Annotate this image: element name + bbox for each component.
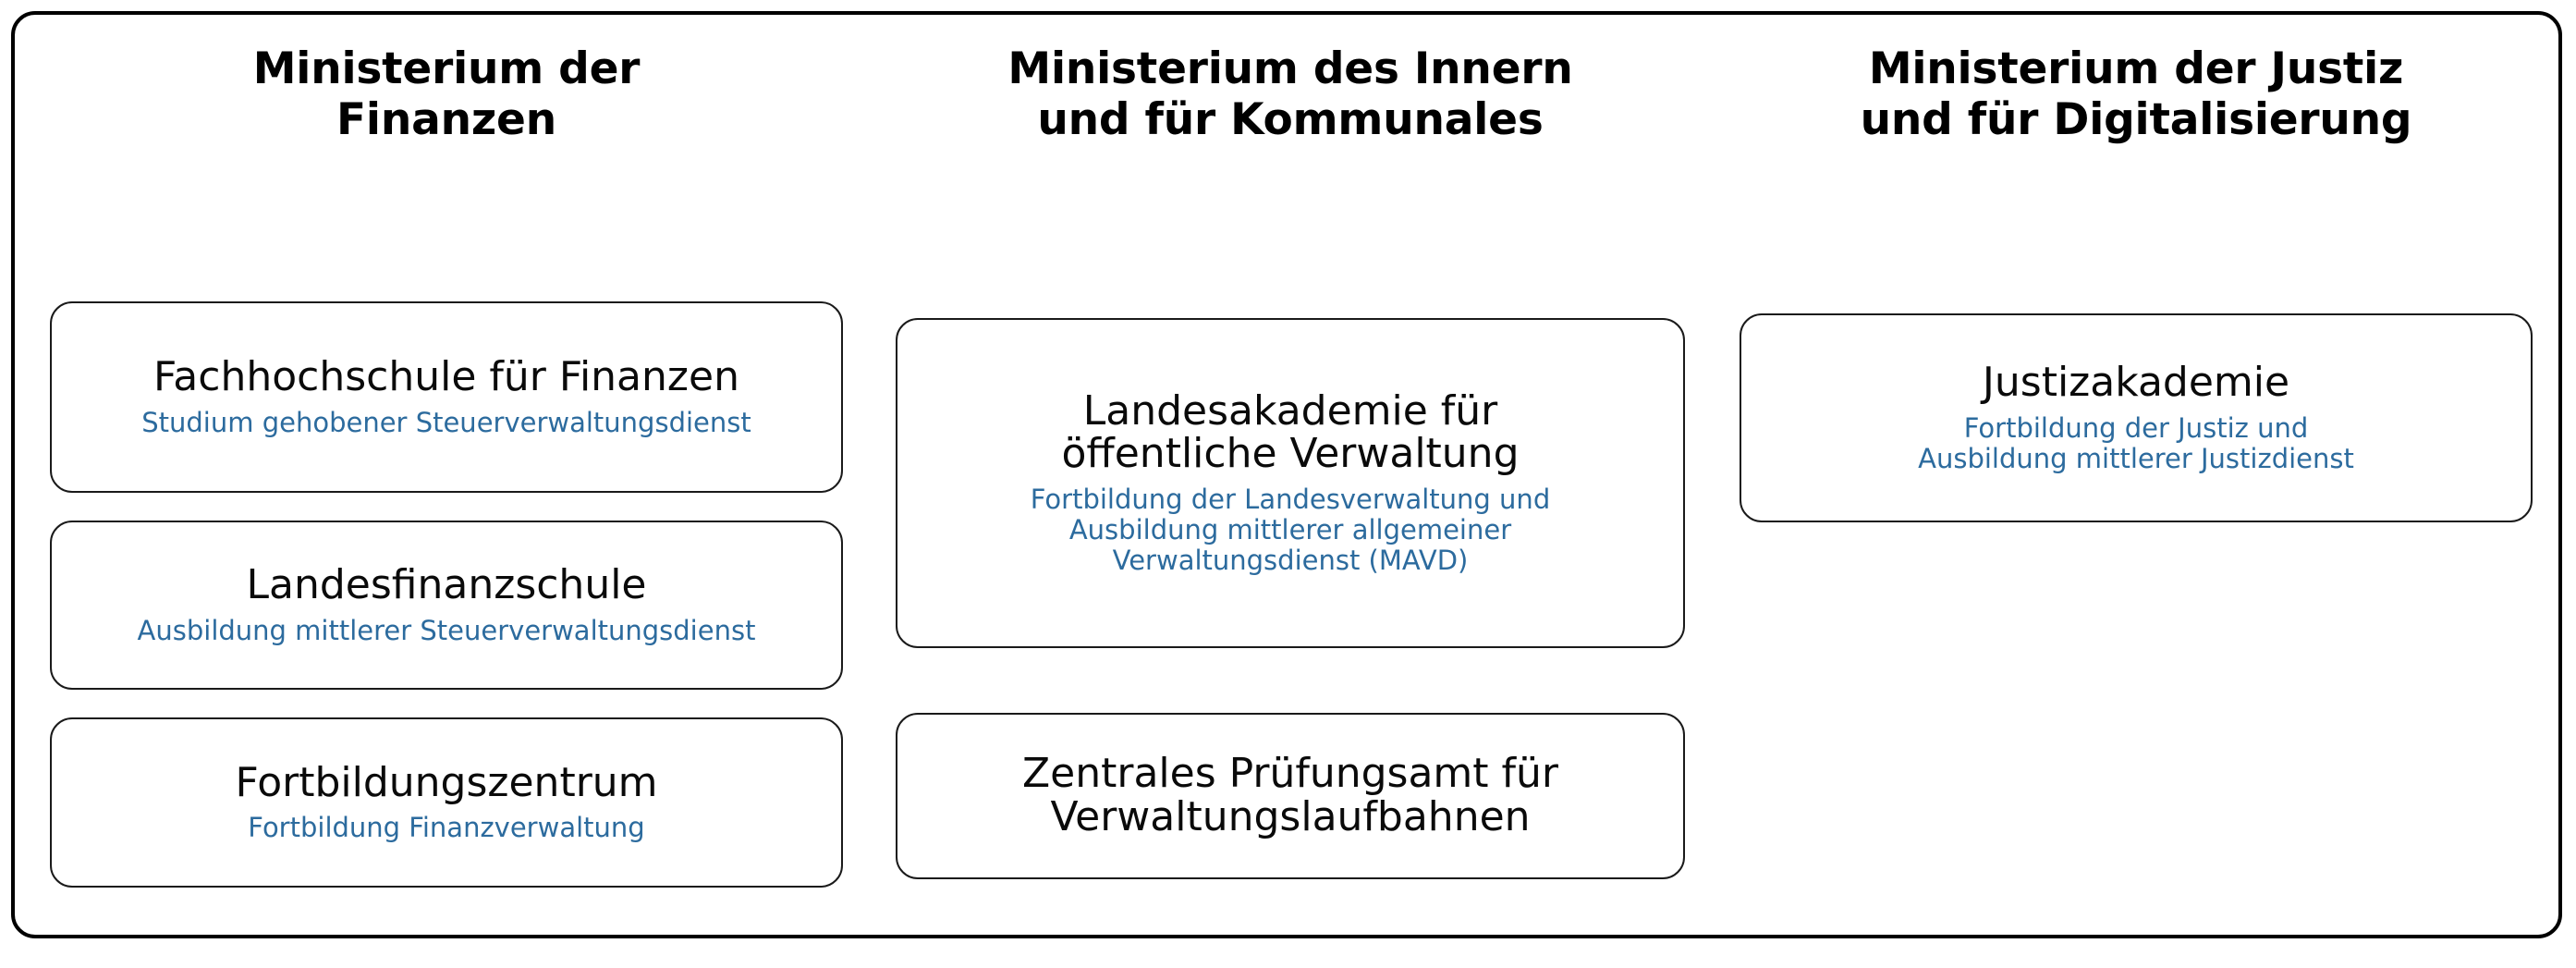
ministry-column-ministerium-der-finanzen: Ministerium derFinanzenFachhochschule fü…	[50, 15, 843, 935]
institution-card-subtitle-line: Ausbildung mittlerer Justizdienst	[1918, 444, 2354, 474]
institution-card-title: Fachhochschule für Finanzen	[153, 356, 739, 399]
institution-card[interactable]: Landesakademie füröffentliche Verwaltung…	[896, 318, 1685, 648]
column-header-ministerium-der-justiz-und-fuer-digitalisierung: Ministerium der Justizund für Digitalisi…	[1740, 44, 2533, 145]
card-stack-ministerium-der-finanzen: Fachhochschule für FinanzenStudium gehob…	[50, 301, 843, 915]
institution-card-subtitle-line: Fortbildung der Justiz und	[1918, 413, 2354, 444]
column-header-ministerium-des-innern-und-fuer-kommunales: Ministerium des Innernund für Kommunales	[896, 44, 1685, 145]
institution-card-subtitle: Fortbildung Finanzverwaltung	[248, 813, 644, 843]
institution-card[interactable]: Zentrales Prüfungsamt fürVerwaltungslauf…	[896, 713, 1685, 879]
institution-card-title-line: Landesfinanzschule	[246, 564, 646, 607]
institution-card-subtitle: Fortbildung der Landesverwaltung undAusb…	[1031, 484, 1550, 576]
institution-card-title-line: Landesakademie für	[1062, 390, 1520, 434]
column-header-line: Ministerium der	[50, 44, 843, 95]
institution-card-title: Justizakademie	[1983, 361, 2289, 405]
institution-card-subtitle-line: Ausbildung mittlerer allgemeiner	[1031, 515, 1550, 545]
institution-card-subtitle-line: Studium gehobener Steuerverwaltungsdiens…	[141, 408, 751, 438]
card-stack-ministerium-des-innern-und-fuer-kommunales: Landesakademie füröffentliche Verwaltung…	[896, 318, 1685, 907]
institution-card-title-line: Fortbildungszentrum	[235, 762, 657, 805]
institution-card-title-line: Justizakademie	[1983, 361, 2289, 405]
institution-card-subtitle-line: Fortbildung Finanzverwaltung	[248, 813, 644, 843]
institution-card-title-line: Verwaltungslaufbahnen	[1022, 796, 1558, 839]
column-header-line: und für Digitalisierung	[1740, 95, 2533, 146]
column-header-ministerium-der-finanzen: Ministerium derFinanzen	[50, 44, 843, 145]
institution-card[interactable]: LandesfinanzschuleAusbildung mittlerer S…	[50, 521, 843, 690]
institution-card-title: Fortbildungszentrum	[235, 762, 657, 805]
column-header-line: Ministerium des Innern	[896, 44, 1685, 95]
institution-card-subtitle-line: Ausbildung mittlerer Steuerverwaltungsdi…	[138, 616, 756, 646]
institution-card-subtitle: Studium gehobener Steuerverwaltungsdiens…	[141, 408, 751, 438]
institution-card-subtitle: Ausbildung mittlerer Steuerverwaltungsdi…	[138, 616, 756, 646]
ministry-column-ministerium-der-justiz-und-fuer-digitalisierung: Ministerium der Justizund für Digitalisi…	[1740, 15, 2533, 935]
institution-card-title: Zentrales Prüfungsamt fürVerwaltungslauf…	[1022, 753, 1558, 839]
institution-card-title: Landesakademie füröffentliche Verwaltung	[1062, 390, 1520, 476]
column-header-line: Ministerium der Justiz	[1740, 44, 2533, 95]
diagram-frame: Ministerium derFinanzenFachhochschule fü…	[11, 11, 2562, 938]
institution-card[interactable]: Fachhochschule für FinanzenStudium gehob…	[50, 301, 843, 493]
institution-card-title-line: Zentrales Prüfungsamt für	[1022, 753, 1558, 796]
column-header-line: und für Kommunales	[896, 95, 1685, 146]
institution-card-title-line: öffentliche Verwaltung	[1062, 433, 1520, 476]
institution-card[interactable]: JustizakademieFortbildung der Justiz und…	[1740, 313, 2533, 522]
institution-card-subtitle: Fortbildung der Justiz undAusbildung mit…	[1918, 413, 2354, 474]
institution-card-title: Landesfinanzschule	[246, 564, 646, 607]
ministry-columns: Ministerium derFinanzenFachhochschule fü…	[15, 15, 2558, 935]
card-stack-ministerium-der-justiz-und-fuer-digitalisierung: JustizakademieFortbildung der Justiz und…	[1740, 313, 2533, 550]
institution-card-subtitle-line: Fortbildung der Landesverwaltung und	[1031, 484, 1550, 515]
ministry-column-ministerium-des-innern-und-fuer-kommunales: Ministerium des Innernund für Kommunales…	[896, 15, 1685, 935]
institution-card-subtitle-line: Verwaltungsdienst (MAVD)	[1031, 545, 1550, 576]
institution-card-title-line: Fachhochschule für Finanzen	[153, 356, 739, 399]
institution-card[interactable]: FortbildungszentrumFortbildung Finanzver…	[50, 717, 843, 888]
column-header-line: Finanzen	[50, 95, 843, 146]
